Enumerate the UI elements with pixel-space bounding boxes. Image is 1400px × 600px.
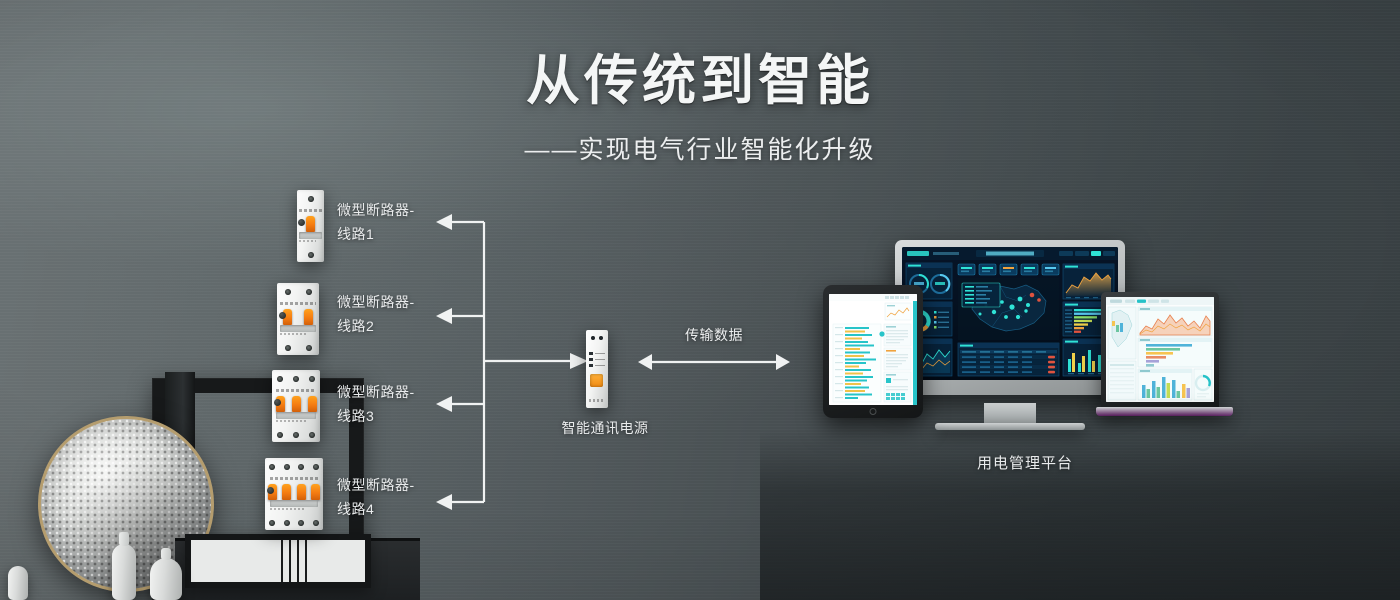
terminal-dot-icon [591, 336, 595, 340]
arrowhead-left-data [638, 354, 652, 370]
terminal-screw-icon [308, 196, 314, 202]
monitor-screen[interactable] [902, 247, 1118, 380]
indicator-label-line [595, 365, 605, 366]
data-link-arrow [638, 348, 790, 376]
terminal-screw-icon [298, 520, 304, 526]
mcb-rating-print [276, 420, 306, 422]
terminal-screw-icon [293, 432, 299, 438]
mcb-bottom-terminals [265, 520, 323, 526]
terminal-screw-icon [309, 432, 315, 438]
terminal-screw-icon [313, 464, 319, 470]
laptop-lid [1101, 292, 1219, 407]
mcb-slot [270, 500, 319, 507]
mcb-bottom-terminals [297, 252, 324, 258]
ceramic-vase-round [150, 558, 182, 600]
indicator-row [589, 352, 605, 355]
terminal-screw-icon [293, 376, 299, 382]
mcb-rating-print [280, 333, 306, 335]
mcb-body [297, 190, 324, 262]
mcb-slot [299, 232, 322, 239]
toggle-lever-icon[interactable] [311, 484, 320, 500]
terminal-screw-icon [269, 520, 275, 526]
toggle-lever-icon[interactable] [292, 396, 301, 412]
room-decor [0, 340, 420, 600]
mcb-label-line-1: 微型断路器- 线路1 [337, 198, 415, 246]
arrowhead-left-2 [436, 308, 452, 324]
tablet-dashboard [829, 294, 917, 405]
mcb-rating-print [299, 240, 316, 242]
terminal-screw-icon [285, 345, 291, 351]
mcb-line-4[interactable] [265, 458, 323, 530]
monitor-stand-neck [984, 403, 1036, 425]
mcb-top-terminals [297, 196, 324, 202]
psu-orange-button[interactable] [590, 374, 603, 387]
page-title: 从传统到智能 [0, 50, 1400, 112]
terminal-screw-icon [277, 432, 283, 438]
terminal-screw-icon [308, 252, 314, 258]
terminal-screw-icon [285, 289, 291, 295]
mcb-body [277, 283, 319, 355]
management-platform-devices: 用电管理平台 [805, 230, 1245, 450]
tablet-home-button-icon[interactable] [870, 408, 877, 415]
mcb-body [272, 370, 320, 442]
terminal-screw-icon [284, 520, 290, 526]
ceramic-vase-tall [112, 544, 136, 600]
page-subtitle: ——实现电气行业智能化升级 [0, 130, 1400, 166]
indicator-led-icon [589, 352, 593, 355]
terminal-screw-icon [306, 289, 312, 295]
psu-indicator-rows [589, 352, 605, 370]
mcb-top-terminals [272, 376, 320, 382]
framed-artwork [185, 534, 371, 588]
monitor-stand-base [935, 423, 1085, 430]
terminal-screw-icon [298, 464, 304, 470]
power-supply-caption: 智能通讯电源 [540, 418, 670, 438]
terminal-screw-icon [269, 464, 275, 470]
laptop-screen[interactable] [1106, 297, 1214, 402]
desktop-monitor[interactable] [895, 240, 1125, 395]
mcb-label-line-2: 微型断路器- 线路2 [337, 290, 415, 338]
test-button-icon[interactable] [274, 399, 281, 406]
mcb-slot [280, 325, 315, 332]
mcb-body [265, 458, 323, 530]
psu-body [586, 330, 608, 408]
toggle-lever-icon[interactable] [304, 309, 313, 325]
arrowhead-left-1 [436, 214, 452, 230]
mcb-brand-print [299, 209, 322, 212]
monitor-bezel [895, 240, 1125, 395]
test-button-icon[interactable] [298, 219, 305, 226]
mcb-brand-print [280, 302, 315, 305]
mcb-line-2[interactable] [277, 283, 319, 355]
hero-block: 从传统到智能 ——实现电气行业智能化升级 [0, 0, 1400, 166]
ceramic-vase-small [8, 566, 28, 600]
terminal-screw-icon [284, 464, 290, 470]
toggle-lever-icon[interactable] [306, 216, 315, 232]
platform-dashboard [902, 247, 1118, 380]
mcb-top-terminals [277, 289, 319, 295]
arrowhead-right-data [776, 354, 790, 370]
mcb-slot [276, 412, 316, 419]
platform-caption: 用电管理平台 [805, 452, 1245, 473]
tablet-device[interactable] [823, 285, 923, 418]
laptop-base [1096, 407, 1233, 416]
mcb-line-3[interactable] [272, 370, 320, 442]
tablet-screen[interactable] [829, 294, 917, 405]
indicator-row [589, 358, 605, 361]
toggle-lever-icon[interactable] [297, 484, 306, 500]
scene-canvas: 从传统到智能 ——实现电气行业智能化升级 [0, 0, 1400, 600]
terminal-screw-icon [277, 376, 283, 382]
mcb-brand-print [270, 477, 319, 480]
smart-communication-power-supply[interactable] [586, 330, 608, 408]
indicator-row [589, 364, 605, 367]
indicator-label-line [595, 353, 605, 354]
terminal-screw-icon [306, 345, 312, 351]
psu-terminals [586, 336, 608, 340]
terminal-screw-icon [309, 376, 315, 382]
laptop-dashboard [1106, 297, 1214, 402]
mcb-bottom-terminals [277, 345, 319, 351]
arrowhead-left-3 [436, 396, 452, 412]
mcb-label-line-3: 微型断路器- 线路3 [337, 380, 415, 428]
psu-foot-print [589, 399, 605, 402]
indicator-label-line [595, 359, 605, 360]
mcb-label-line-4: 微型断路器- 线路4 [337, 473, 415, 521]
laptop-device[interactable] [1101, 292, 1233, 424]
indicator-led-icon [589, 364, 593, 367]
terminal-screw-icon [313, 520, 319, 526]
mcb-bottom-terminals [272, 432, 320, 438]
artwork-lines [281, 540, 307, 582]
mcb-brand-print [276, 389, 316, 392]
data-link-label: 传输数据 [638, 325, 790, 345]
test-button-icon[interactable] [279, 312, 286, 319]
toggle-lever-icon[interactable] [282, 484, 291, 500]
mcb-line-1[interactable] [297, 190, 324, 262]
toggle-lever-icon[interactable] [308, 396, 317, 412]
arrowhead-left-4 [436, 494, 452, 510]
indicator-led-icon [589, 358, 593, 361]
mcb-top-terminals [265, 464, 323, 470]
terminal-dot-icon [599, 336, 603, 340]
mcb-rating-print [270, 508, 306, 510]
